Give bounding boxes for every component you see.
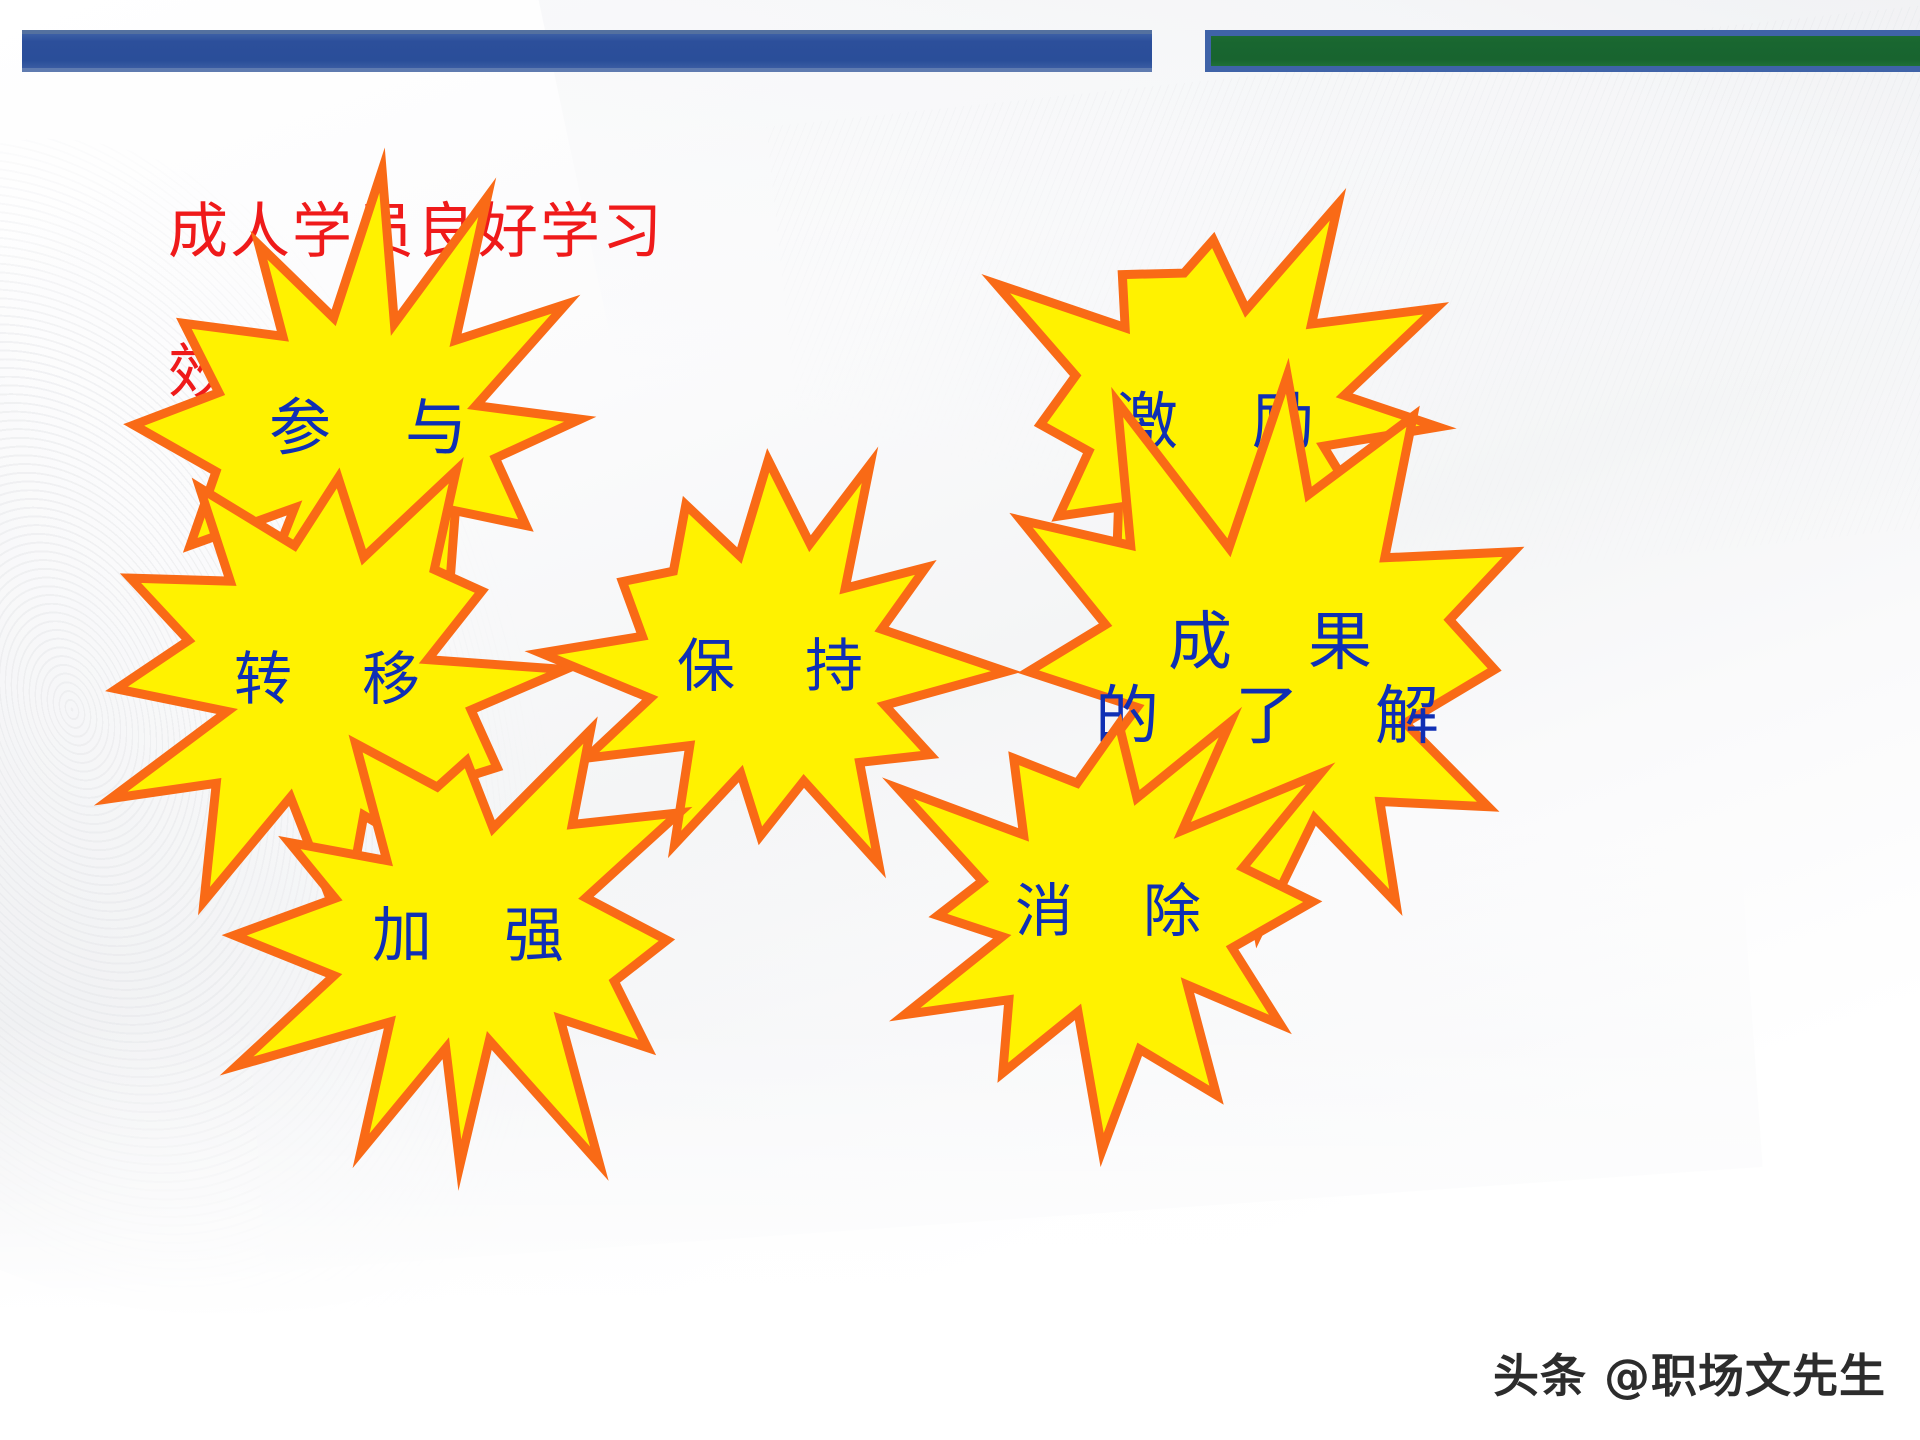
slide-canvas: 成人学员良好学习 效果的因素 参 与激 励转 移保 持成 果 的 了 解加 强消… [0,0,1920,1440]
star-burst-icon [234,730,679,1165]
blue-banner-bar [22,30,1152,72]
burst-strengthen[interactable]: 加 强 [248,782,688,1092]
green-banner-bar [1205,30,1920,72]
burst-strengthen-shape [248,782,688,1092]
watermark: 头条 @职场文先生 [1493,1340,1886,1406]
star-burst-icon [898,722,1321,1150]
burst-eliminate[interactable]: 消 除 [898,762,1318,1062]
burst-eliminate-shape [898,762,1318,1062]
